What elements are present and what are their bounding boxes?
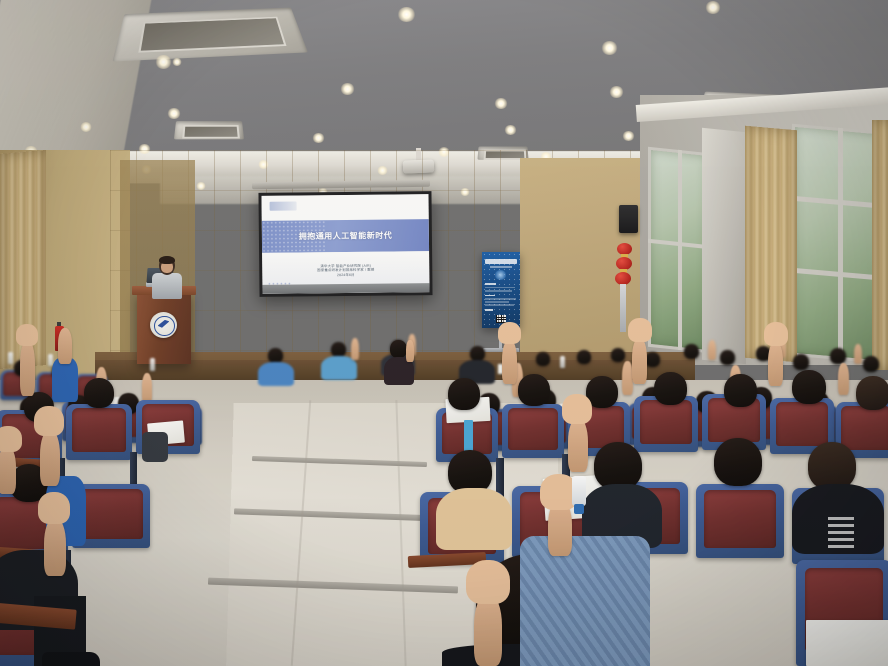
raised-hand	[568, 418, 588, 472]
auditorium-seat	[696, 484, 784, 558]
presenter-body	[152, 273, 182, 299]
raised-hand	[40, 430, 60, 486]
raised-hand	[764, 322, 788, 346]
wall-pillar	[702, 128, 746, 365]
raised-hand	[34, 406, 64, 436]
conference-tote-bag	[806, 620, 888, 666]
event-banner	[482, 252, 520, 328]
presenter-head	[159, 256, 175, 275]
slide-subtitle-3: 2024年6月	[337, 272, 355, 277]
downlight-icon	[172, 58, 182, 66]
raised-hand	[16, 324, 38, 346]
wall-speaker	[619, 205, 638, 233]
attendee-head	[724, 374, 757, 407]
downlight-icon	[312, 133, 325, 143]
downlight-icon	[340, 83, 355, 95]
downlight-icon	[80, 122, 92, 132]
downlight-icon	[609, 86, 624, 98]
attendee-head	[714, 438, 762, 486]
raised-hand	[0, 446, 16, 494]
attendee-head	[84, 378, 114, 408]
attendee-shoe	[42, 652, 100, 666]
raised-hand	[44, 518, 66, 576]
banner-title-bar	[485, 259, 517, 264]
lantern-pole	[620, 284, 626, 332]
window-mullion	[678, 150, 682, 350]
downlight-icon	[155, 55, 172, 69]
downlight-icon	[504, 125, 517, 135]
attendee-sleeve	[52, 358, 78, 402]
ac-cassette-icon	[112, 8, 307, 62]
downlight-icon	[601, 41, 618, 55]
raised-hand	[768, 342, 783, 386]
attendee-foreground-blue	[500, 470, 670, 666]
attendee-head	[654, 372, 687, 405]
attendee-head	[448, 378, 480, 410]
raised-hand	[838, 363, 849, 395]
projection-screen: 拥抱通用人工智能新时代 清华大学 智能产业研究院 (AIR) 国家重点研发计划首…	[258, 191, 432, 297]
attendee-head	[792, 370, 826, 404]
downlight-icon	[622, 131, 635, 141]
raised-hand	[502, 340, 517, 384]
raised-hand	[38, 492, 70, 524]
attendee-torso	[520, 536, 650, 666]
remote-tip	[574, 504, 584, 514]
raised-hand	[20, 340, 35, 396]
raised-hand	[632, 338, 647, 384]
lecture-hall-photo: 拥抱通用人工智能新时代 清华大学 智能产业研究院 (AIR) 国家重点研发计划首…	[0, 0, 888, 666]
slide-logo	[270, 201, 297, 210]
banner-qr-code	[496, 315, 506, 323]
backpack	[142, 432, 168, 462]
raised-hand	[58, 328, 72, 364]
raised-hand	[562, 394, 592, 424]
auditorium-seat	[502, 404, 564, 458]
downlight-icon	[167, 108, 181, 119]
attendee-head	[808, 442, 856, 490]
raised-hand	[0, 426, 22, 452]
attendee-head	[856, 376, 888, 410]
foreground-raised-hand	[462, 560, 522, 666]
slide-title: 拥抱通用人工智能新时代	[299, 230, 393, 242]
downlight-icon	[705, 1, 721, 14]
ac-cassette-icon	[174, 121, 244, 139]
downlight-icon	[397, 7, 416, 22]
raised-hand	[142, 373, 152, 403]
raised-hand	[628, 318, 652, 342]
attendee-head	[518, 374, 550, 406]
handheld-remote	[572, 476, 586, 506]
auditorium-seat	[66, 404, 132, 460]
tote-strap	[464, 420, 473, 454]
raised-hand	[498, 322, 521, 344]
downlight-icon	[494, 98, 508, 109]
window-mullion	[838, 128, 843, 360]
jacket-print	[828, 516, 854, 548]
